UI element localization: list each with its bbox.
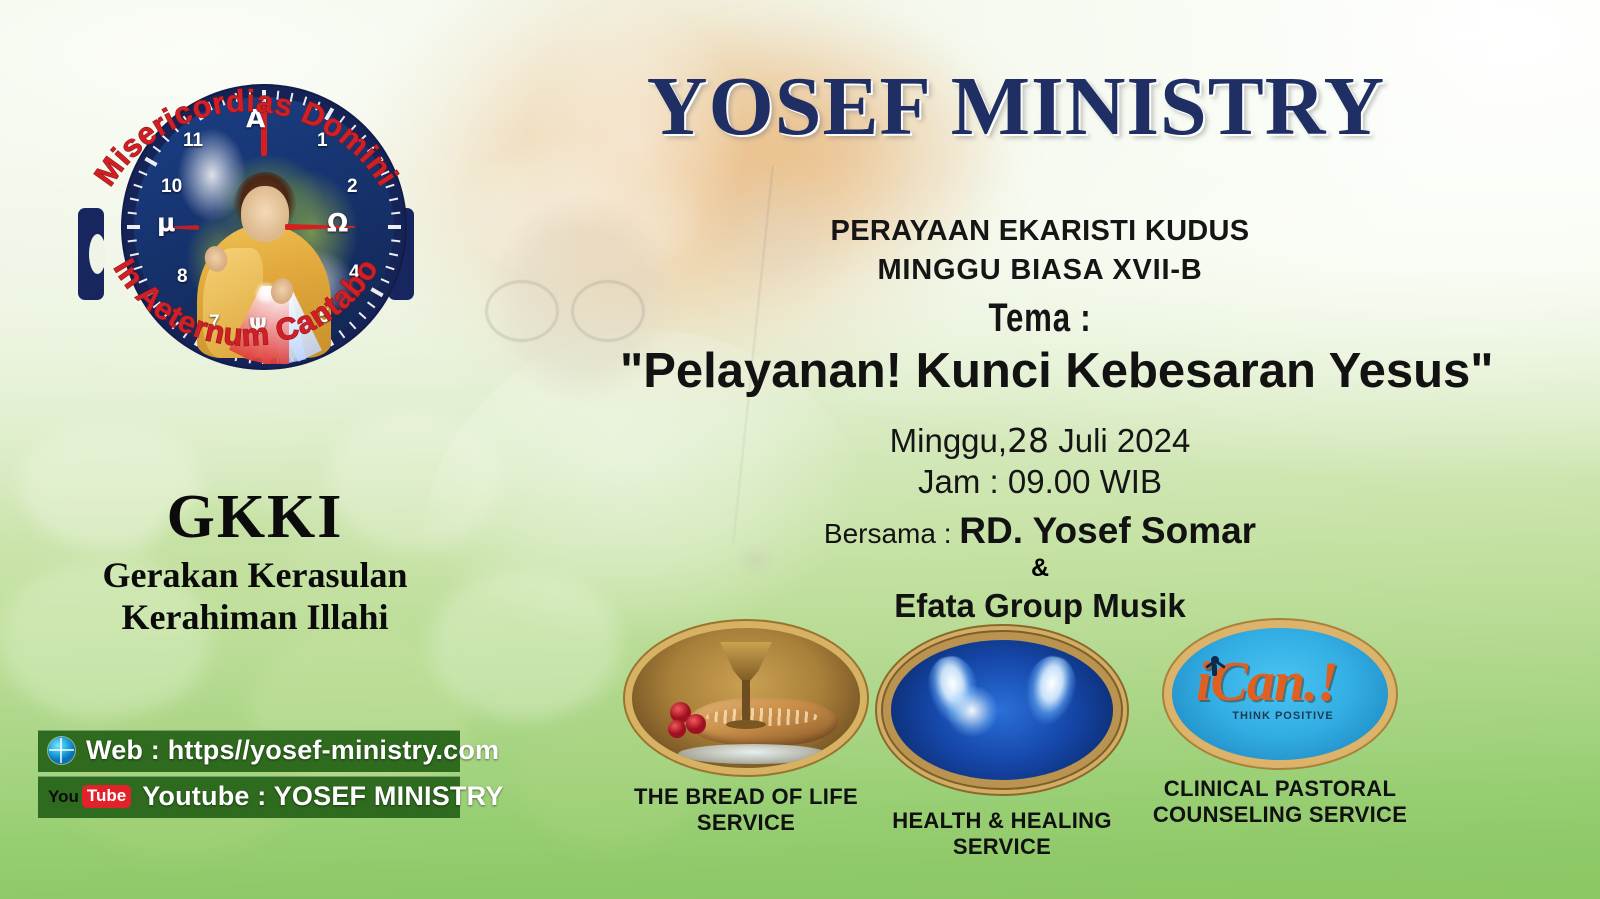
theme-label: Tema : (712, 296, 1367, 341)
poster-canvas: Α Ω μ Ψ 11 1 2 4 5 7 8 10 Misericordias … (0, 0, 1600, 899)
healing-hands-medallion (891, 640, 1113, 780)
event-details: PERAYAAN EKARISTI KUDUS MINGGU BIASA XVI… (620, 212, 1460, 625)
service-caption-clinical-line2: COUNSELING SERVICE (1153, 802, 1407, 828)
event-date-prefix: Minggu, (890, 422, 1007, 459)
website-text: Web : https//yosef-ministry.com (86, 735, 499, 766)
event-time: Jam : 09.00 WIB (620, 462, 1460, 503)
healing-hands-icon: ILLUMINA PURIFICA SANCTIFICA (873, 628, 1131, 792)
services-row: THE BREAD OF LIFE SERVICE ILLUMINA PURIF… (620, 628, 1460, 861)
globe-icon (48, 737, 75, 764)
emblem-motto-top-text: Misericordias Domini (87, 83, 405, 192)
youtube-icon: You Tube (48, 785, 131, 808)
ministry-emblem: Α Ω μ Ψ 11 1 2 4 5 7 8 10 Misericordias … (66, 22, 426, 422)
theme-text: "Pelayanan! Kunci Kebesaran Yesus" (620, 343, 1460, 399)
celebrant-label: Bersama : (824, 518, 959, 549)
organization-acronym: GKKI (40, 486, 470, 548)
ican-logo-icon: iCan.! THINK POSITIVE (1172, 628, 1388, 760)
service-clinical-pastoral: iCan.! THINK POSITIVE CLINICAL PASTORAL … (1132, 628, 1428, 829)
service-caption-health: HEALTH & HEALING SERVICE (892, 808, 1112, 861)
service-health-healing: ILLUMINA PURIFICA SANCTIFICA HEALTH & HE… (872, 628, 1132, 861)
service-caption-bread-line1: THE BREAD OF LIFE (634, 784, 858, 810)
emblem-arc-text: Misericordias Domini In Aeternum Cantabo (66, 22, 426, 422)
organization-name-line1: Gerakan Kerasulan (40, 554, 470, 596)
bread-and-chalice-icon (632, 628, 860, 768)
music-group: Efata Group Musik (620, 587, 1460, 625)
event-subtitle-line2: MINGGU BIASA XVII-B (620, 251, 1460, 290)
celebrant-name: RD. Yosef Somar (959, 510, 1256, 551)
service-caption-health-line1: HEALTH & HEALING (892, 808, 1112, 834)
organization-block: GKKI Gerakan Kerasulan Kerahiman Illahi (40, 486, 470, 639)
emblem-motto-bottom: In Aeternum Cantabo (107, 252, 385, 353)
service-caption-clinical-line1: CLINICAL PASTORAL (1153, 776, 1407, 802)
service-caption-health-line2: SERVICE (892, 834, 1112, 860)
event-celebrant-line: Bersama : RD. Yosef Somar (620, 511, 1460, 550)
event-date: Minggu,28 Juli 2024 (620, 421, 1460, 462)
event-date-rest: Juli 2024 (1049, 422, 1190, 459)
youtube-bar[interactable]: You Tube Youtube : YOSEF MINISTRY (38, 776, 460, 818)
emblem-motto-top: Misericordias Domini (87, 83, 405, 192)
youtube-icon-tube: Tube (82, 785, 131, 808)
event-date-day: 28 (1007, 421, 1049, 460)
organization-name-line2: Kerahiman Illahi (40, 596, 470, 638)
service-caption-bread: THE BREAD OF LIFE SERVICE (634, 784, 858, 837)
emblem-motto-bottom-text: In Aeternum Cantabo (107, 252, 385, 353)
event-datetime: Minggu,28 Juli 2024 Jam : 09.00 WIB (620, 421, 1460, 503)
contact-block: Web : https//yosef-ministry.com You Tube… (38, 730, 460, 822)
organization-name: Gerakan Kerasulan Kerahiman Illahi (40, 554, 470, 639)
page-title: YOSEF MINISTRY (586, 58, 1446, 155)
person-figure-icon (1206, 656, 1222, 678)
ican-tagline: THINK POSITIVE (1208, 710, 1358, 722)
youtube-icon-you: You (48, 787, 79, 807)
event-subtitle-line1: PERAYAAN EKARISTI KUDUS (620, 212, 1460, 251)
ampersand: & (620, 550, 1460, 588)
service-bread-of-life: THE BREAD OF LIFE SERVICE (620, 628, 872, 837)
website-bar[interactable]: Web : https//yosef-ministry.com (38, 730, 460, 772)
service-caption-bread-line2: SERVICE (634, 810, 858, 836)
service-caption-clinical: CLINICAL PASTORAL COUNSELING SERVICE (1153, 776, 1407, 829)
youtube-text: Youtube : YOSEF MINISTRY (142, 781, 503, 812)
